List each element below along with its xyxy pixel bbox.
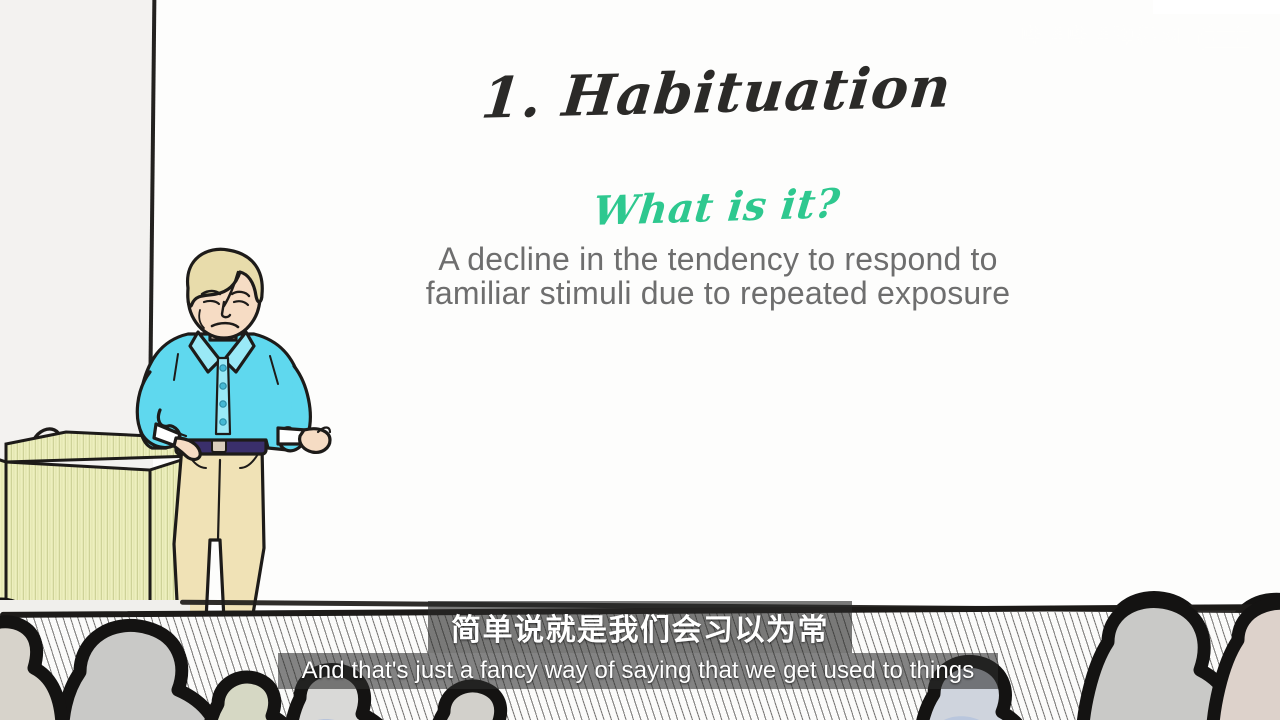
slide-body-line-2: familiar stimuli due to repeated exposur… — [293, 276, 1143, 310]
right-hand — [300, 429, 330, 453]
caption-english: And that's just a fancy way of saying th… — [278, 653, 998, 689]
slide-title: 1. Habituation — [150, 46, 1280, 140]
slide-body-line-1: A decline in the tendency to respond to — [293, 242, 1143, 276]
audience-head — [62, 625, 220, 720]
video-frame: 1. Habituation What is it? A decline in … — [0, 0, 1280, 720]
caption-chinese-text: 简单说就是我们会习以为常 — [451, 605, 829, 649]
audience-head — [434, 686, 518, 720]
audience-head — [0, 622, 62, 720]
caption-english-text: And that's just a fancy way of saying th… — [302, 657, 975, 685]
audience-head — [1212, 603, 1280, 720]
caption-chinese: 简单说就是我们会习以为常 — [428, 601, 852, 653]
slide-subtitle: What is it? — [151, 166, 1280, 249]
slide-body-text: A decline in the tendency to respond to … — [293, 242, 1143, 310]
